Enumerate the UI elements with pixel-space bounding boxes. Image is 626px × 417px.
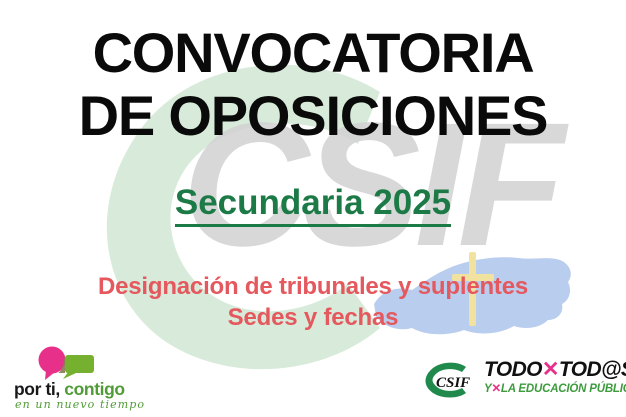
slogan-line-1: TODO✕TOD@S <box>484 358 618 382</box>
csif-logo-icon: CSIF <box>422 362 478 398</box>
detail-line-2: Sedes y fechas <box>0 303 626 334</box>
subtitle-text: Secundaria 2025 <box>175 183 451 227</box>
headline-line-1: CONVOCATORIA <box>0 22 626 85</box>
speech-bubbles-icon <box>32 346 102 381</box>
poster-headline: CONVOCATORIA DE OPOSICIONES <box>0 22 626 147</box>
slogan-line-2: Y✕LA EDUCACIÓN PÚBLICA <box>484 382 618 396</box>
slogan-todas: TOD@S <box>559 358 626 381</box>
slogan-sub-rest: LA EDUCACIÓN PÚBLICA <box>501 383 626 395</box>
logo-left-word-por-ti: por ti, <box>14 379 60 399</box>
csif-todoxtodas-logo: CSIF TODO✕TOD@S Y✕LA EDUCACIÓN PÚBLICA <box>422 358 618 408</box>
por-ti-contigo-logo: por ti, contigo en un nuevo tiempo <box>14 346 149 408</box>
csif-logo-text: CSIF <box>436 375 470 391</box>
headline-line-2: DE OPOSICIONES <box>0 85 626 148</box>
poster-subtitle: Secundaria 2025 <box>0 183 626 227</box>
logo-left-word-contigo: contigo <box>64 379 124 399</box>
slogan-sub-x-icon: ✕ <box>491 383 500 395</box>
poster-canvas: CSIF CONVOCATORIA DE OPOSICIONES Secunda… <box>0 0 626 417</box>
slogan-x-icon: ✕ <box>542 358 559 381</box>
slogan-todo: TODO <box>484 358 542 381</box>
logo-left-words: por ti, contigo <box>14 379 149 400</box>
todoxtodas-slogan: TODO✕TOD@S Y✕LA EDUCACIÓN PÚBLICA <box>484 358 618 396</box>
logo-left-tagline: en un nuevo tiempo <box>15 398 145 411</box>
poster-details: Designación de tribunales y suplentes Se… <box>0 272 626 333</box>
detail-line-1: Designación de tribunales y suplentes <box>0 272 626 303</box>
